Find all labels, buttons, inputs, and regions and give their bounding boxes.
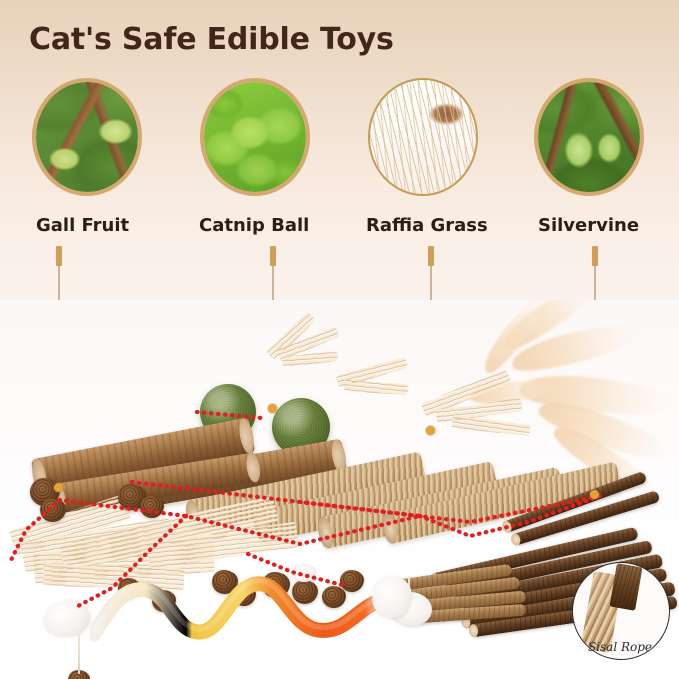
ingredient-label-catnip-ball: Catnip Ball (199, 215, 309, 236)
hanging-string (78, 634, 80, 674)
wavy-spring-toy (90, 568, 420, 648)
sisal-rope-inset-label: Sisal Rope (572, 640, 668, 654)
pointer-dot-gall-fruit (54, 483, 63, 492)
page-title: Cat's Safe Edible Toys (29, 22, 394, 57)
pointer-tick-raffia-grass (428, 246, 434, 266)
ingredient-circle-raffia-grass (368, 78, 478, 196)
pointer-tick-gall-fruit (56, 246, 62, 266)
ingredient-circle-catnip-ball (200, 78, 310, 196)
pointer-tick-silvervine (592, 246, 598, 266)
pointer-dot-raffia-grass (426, 426, 435, 435)
product-photo: Sisal Rope (0, 300, 679, 679)
raffia-grass-photo (370, 80, 476, 194)
infographic-page: Cat's Safe Edible Toys Gall Fruit Catnip… (0, 0, 679, 679)
pointer-dot-catnip-ball (268, 404, 277, 413)
catnip-leaves-photo (204, 82, 306, 192)
ingredient-label-gall-fruit: Gall Fruit (36, 215, 129, 236)
ingredient-label-silvervine: Silvervine (538, 215, 639, 236)
silvervine-fruit-photo (538, 82, 640, 192)
gall-fruit-photo (36, 82, 138, 192)
pointer-dot-silvervine (590, 490, 599, 499)
ingredient-circle-gall-fruit (32, 78, 142, 196)
ingredient-circle-silvervine (534, 78, 644, 196)
pointer-tick-catnip-ball (270, 246, 276, 266)
ingredient-label-raffia-grass: Raffia Grass (366, 215, 488, 236)
